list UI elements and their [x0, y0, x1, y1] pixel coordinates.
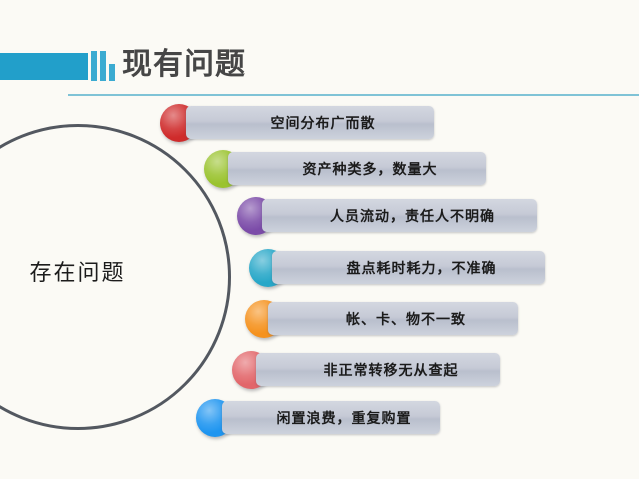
list-item-bar: 人员流动，责任人不明确	[262, 199, 537, 232]
bar-chart-icon-bar-2	[100, 51, 106, 81]
central-circle-label: 存在问题	[0, 255, 215, 287]
list-item-bar: 盘点耗时耗力，不准确	[272, 251, 545, 284]
header-divider	[68, 94, 639, 96]
list-item-bar: 闲置浪费，重复购置	[222, 401, 440, 434]
list-item-label: 盘点耗时耗力，不准确	[272, 251, 545, 284]
list-item-bar: 帐、卡、物不一致	[268, 302, 518, 335]
bar-chart-icon	[91, 49, 119, 81]
list-item-label: 空间分布广而散	[186, 106, 434, 139]
list-item-label: 资产种类多，数量大	[228, 152, 486, 185]
list-item-label: 人员流动，责任人不明确	[262, 199, 537, 232]
list-item-bar: 资产种类多，数量大	[228, 152, 486, 185]
list-item-bar: 空间分布广而散	[186, 106, 434, 139]
list-item-label: 非正常转移无从查起	[256, 353, 500, 386]
bar-chart-icon-bar-3	[109, 64, 115, 81]
list-item-label: 闲置浪费，重复购置	[222, 401, 440, 434]
list-item-label: 帐、卡、物不一致	[268, 302, 518, 335]
list-item-bar: 非正常转移无从查起	[256, 353, 500, 386]
page-title: 现有问题	[122, 46, 246, 84]
header-accent-bar	[0, 53, 88, 80]
slide-canvas: 现有问题 存在问题 空间分布广而散 资产种类多，数量大 人员流动，责任人不明确 …	[0, 0, 639, 479]
bar-chart-icon-bar-1	[91, 51, 97, 81]
